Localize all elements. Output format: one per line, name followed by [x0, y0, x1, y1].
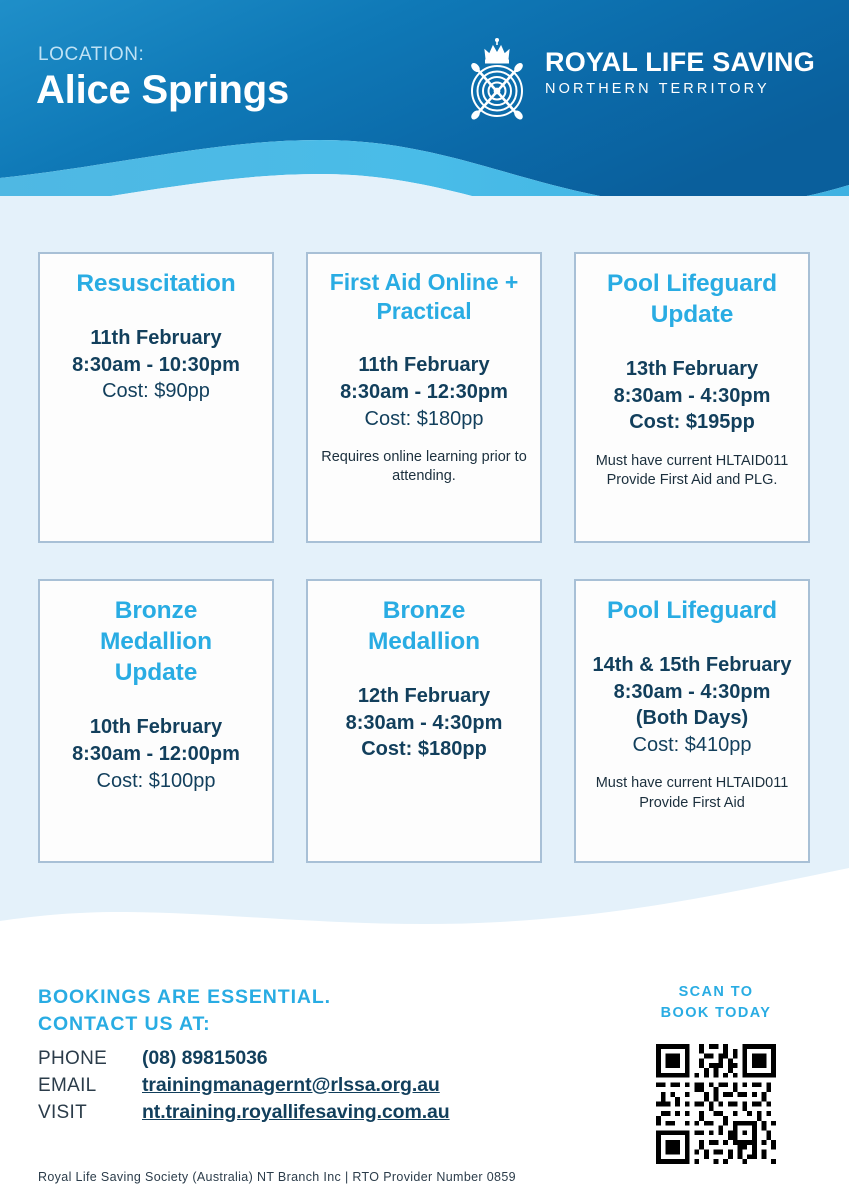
course-time: 8:30am - 4:30pm [586, 679, 798, 706]
course-date: 14th & 15th February [586, 652, 798, 679]
course-card-bronze-medallion-update[interactable]: Bronze Medallion Update 10th February 8:… [38, 579, 274, 863]
header-content: LOCATION: Alice Springs [0, 0, 849, 160]
course-card-title-line1: First Aid Online + [318, 268, 530, 297]
course-date: 11th February [318, 352, 530, 379]
course-card-title-line2: Medallion [50, 626, 262, 657]
visit-label: VISIT [38, 1102, 142, 1124]
course-cards-grid: Resuscitation 11th February 8:30am - 10:… [38, 252, 810, 899]
contact-details: PHONE (08) 89815036 EMAIL trainingmanage… [38, 1047, 558, 1124]
course-card-title: Bronze Medallion [318, 595, 530, 657]
course-card-title: Resuscitation [50, 268, 262, 299]
scan-heading-line2: BOOK TODAY [621, 1003, 811, 1024]
course-card-title: Pool Lifeguard [586, 595, 798, 626]
course-cost: Cost: $180pp [318, 736, 530, 763]
course-card-bronze-medallion[interactable]: Bronze Medallion 12th February 8:30am - … [306, 579, 542, 863]
course-card-details: 11th February 8:30am - 12:30pm Cost: $18… [318, 352, 530, 486]
brand-name: ROYAL LIFE SAVING [545, 49, 825, 76]
course-card-title: First Aid Online + Practical [318, 268, 530, 326]
email-link[interactable]: trainingmanagernt@rlssa.org.au [142, 1074, 440, 1097]
email-label: EMAIL [38, 1075, 142, 1097]
course-cards-row-2: Bronze Medallion Update 10th February 8:… [38, 579, 810, 863]
course-cost: Cost: $90pp [50, 378, 262, 405]
scan-block: SCAN TO BOOK TODAY [621, 982, 811, 1164]
course-card-title-line1: Bronze [318, 595, 530, 626]
contact-row-phone: PHONE (08) 89815036 [38, 1047, 558, 1070]
brand-region: NORTHERN TERRITORY [545, 82, 825, 97]
course-note: Requires online learning prior to attend… [318, 448, 530, 487]
course-card-details: 10th February 8:30am - 12:00pm Cost: $10… [50, 714, 262, 794]
qr-code-wrapper [621, 1044, 811, 1164]
course-note: Must have current HLTAID011 Provide Firs… [586, 452, 798, 491]
course-date: 12th February [318, 683, 530, 710]
course-time: 8:30am - 4:30pm [586, 383, 798, 410]
course-time: 8:30am - 12:00pm [50, 741, 262, 768]
course-date: 11th February [50, 325, 262, 352]
course-cost: Cost: $100pp [50, 768, 262, 795]
footer: BOOKINGS ARE ESSENTIAL. CONTACT US AT: P… [0, 970, 849, 1200]
course-card-details: 11th February 8:30am - 10:30pm Cost: $90… [50, 325, 262, 405]
course-date: 13th February [586, 356, 798, 383]
course-card-pool-lifeguard-update[interactable]: Pool Lifeguard Update 13th February 8:30… [574, 252, 810, 543]
course-time: 8:30am - 4:30pm [318, 710, 530, 737]
course-time: 8:30am - 10:30pm [50, 352, 262, 379]
course-card-title: Pool Lifeguard Update [586, 268, 798, 330]
course-card-details: 14th & 15th February 8:30am - 4:30pm (Bo… [586, 652, 798, 813]
course-card-title-line2: Medallion [318, 626, 530, 657]
course-card-title: Bronze Medallion Update [50, 595, 262, 688]
phone-label: PHONE [38, 1048, 142, 1070]
contact-row-visit: VISIT nt.training.royallifesaving.com.au [38, 1101, 558, 1124]
course-card-details: 13th February 8:30am - 4:30pm Cost: $195… [586, 356, 798, 490]
brand-logo: ROYAL LIFE SAVING NORTHERN TERRITORY [455, 36, 825, 126]
contact-row-email: EMAIL trainingmanagernt@rlssa.org.au [38, 1074, 558, 1097]
course-cost: Cost: $180pp [318, 406, 530, 433]
location-label: LOCATION: [38, 44, 144, 66]
website-link[interactable]: nt.training.royallifesaving.com.au [142, 1101, 450, 1124]
course-card-resuscitation[interactable]: Resuscitation 11th February 8:30am - 10:… [38, 252, 274, 543]
course-card-pool-lifeguard[interactable]: Pool Lifeguard 14th & 15th February 8:30… [574, 579, 810, 863]
course-card-title-line1: Pool Lifeguard [586, 268, 798, 299]
course-time: 8:30am - 12:30pm [318, 379, 530, 406]
brand-logo-text: ROYAL LIFE SAVING NORTHERN TERRITORY [545, 49, 825, 97]
bookings-heading-line1: BOOKINGS ARE ESSENTIAL. [38, 984, 558, 1011]
course-card-title-line2: Practical [318, 297, 530, 326]
course-note: Must have current HLTAID011 Provide Firs… [586, 774, 798, 813]
course-card-title-line1: Bronze [50, 595, 262, 626]
royal-life-saving-crest-icon [455, 36, 539, 124]
course-time-note: (Both Days) [586, 705, 798, 732]
course-card-details: 12th February 8:30am - 4:30pm Cost: $180… [318, 683, 530, 763]
course-card-title-line3: Update [50, 657, 262, 688]
qr-code-icon[interactable] [656, 1044, 776, 1164]
bookings-heading-line2: CONTACT US AT: [38, 1011, 558, 1038]
course-cards-row-1: Resuscitation 11th February 8:30am - 10:… [38, 252, 810, 543]
contact-block: BOOKINGS ARE ESSENTIAL. CONTACT US AT: P… [38, 984, 558, 1128]
course-card-first-aid-online-practical[interactable]: First Aid Online + Practical 11th Februa… [306, 252, 542, 543]
course-date: 10th February [50, 714, 262, 741]
phone-value[interactable]: (08) 89815036 [142, 1047, 268, 1070]
flyer-page: LOCATION: Alice Springs [0, 0, 849, 1200]
course-cost: Cost: $195pp [586, 409, 798, 436]
course-cost: Cost: $410pp [586, 732, 798, 759]
course-card-title-line2: Update [586, 299, 798, 330]
scan-heading-line1: SCAN TO [621, 982, 811, 1003]
page-title: Alice Springs [36, 68, 289, 113]
legal-text: Royal Life Saving Society (Australia) NT… [38, 1170, 516, 1184]
